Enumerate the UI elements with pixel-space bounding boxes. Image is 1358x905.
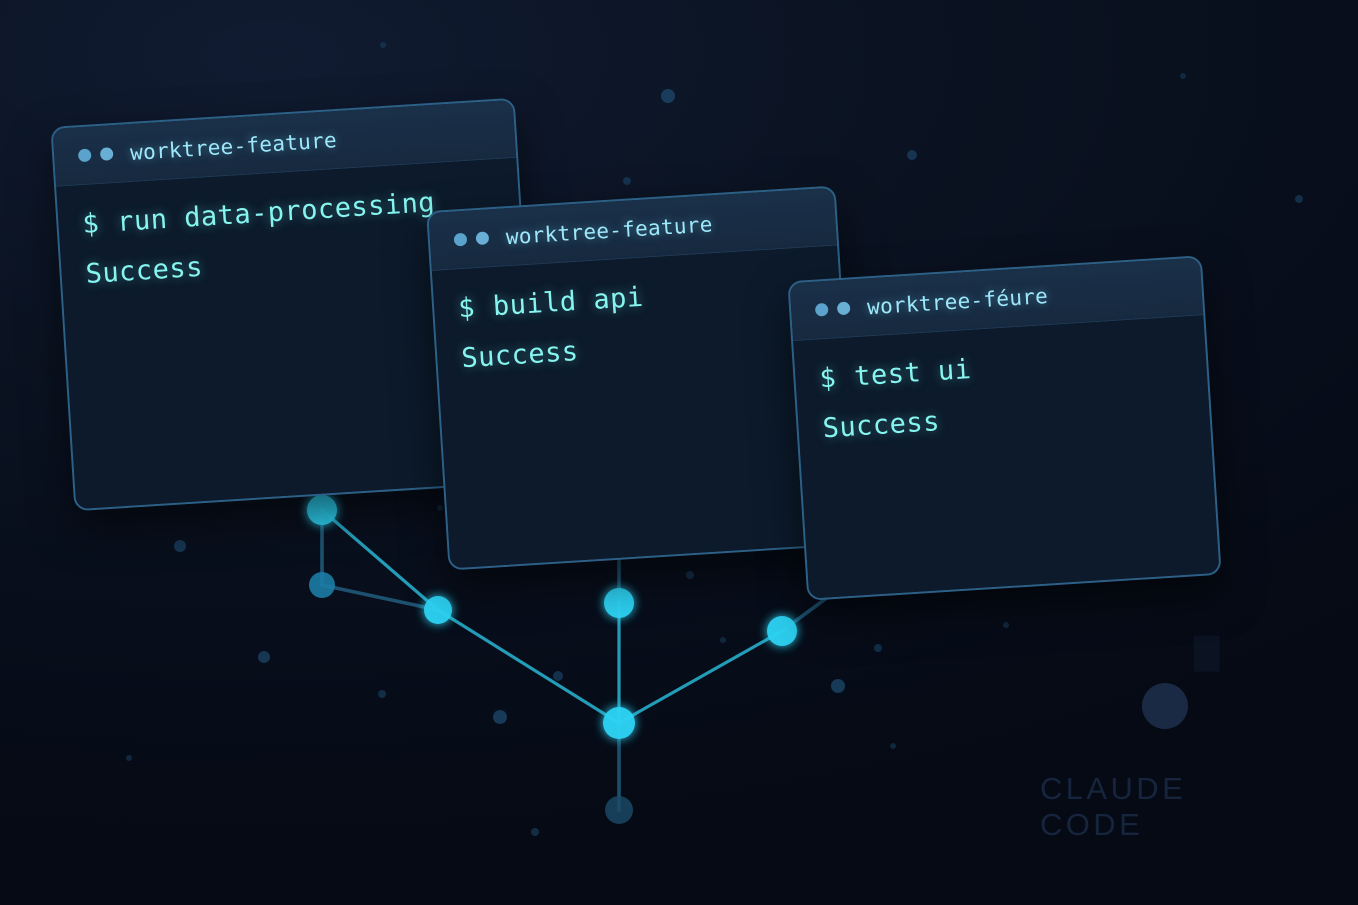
- traffic-light-dot-right-2[interactable]: [476, 231, 490, 245]
- traffic-light-dot-right-3[interactable]: [837, 301, 851, 315]
- command-text-1: run data-processing: [116, 187, 436, 238]
- graph-node[interactable]: [424, 596, 452, 624]
- prompt-symbol-3: $: [819, 362, 838, 394]
- command-line-3: $test ui: [819, 343, 1183, 393]
- window-title-3: worktree-féure: [866, 284, 1048, 319]
- output-line-3: Success: [822, 393, 1186, 443]
- graph-node[interactable]: [605, 796, 633, 824]
- command-line-2: $build api: [457, 273, 816, 322]
- traffic-light-dot-left-3[interactable]: [815, 303, 829, 317]
- window-title-2: worktree-feature: [505, 212, 713, 249]
- traffic-light-dot-left-1[interactable]: [78, 148, 92, 162]
- graph-node[interactable]: [307, 495, 337, 525]
- graph-edge: [438, 610, 619, 723]
- graph-edge: [322, 585, 438, 610]
- graph-node[interactable]: [603, 707, 635, 739]
- terminal-body-3: $test ui Success: [793, 315, 1219, 598]
- output-line-2: Success: [461, 323, 820, 372]
- graph-edge: [619, 631, 782, 723]
- terminal-window-3[interactable]: worktree-féure $test ui Success: [787, 255, 1221, 600]
- graph-node[interactable]: [767, 616, 797, 646]
- command-text-2: build api: [492, 282, 644, 322]
- prompt-symbol-1: $: [82, 208, 101, 240]
- traffic-light-dot-left-2[interactable]: [454, 233, 468, 247]
- graph-edge: [322, 510, 438, 610]
- graph-node[interactable]: [309, 572, 335, 598]
- scene-root: CLAUDE CODE worktree-feature $run data-p…: [0, 0, 1358, 905]
- window-title-1: worktree-feature: [129, 128, 337, 165]
- traffic-light-dot-right-1[interactable]: [100, 147, 114, 161]
- prompt-symbol-2: $: [457, 292, 476, 324]
- graph-node[interactable]: [604, 588, 634, 618]
- command-text-3: test ui: [853, 354, 972, 392]
